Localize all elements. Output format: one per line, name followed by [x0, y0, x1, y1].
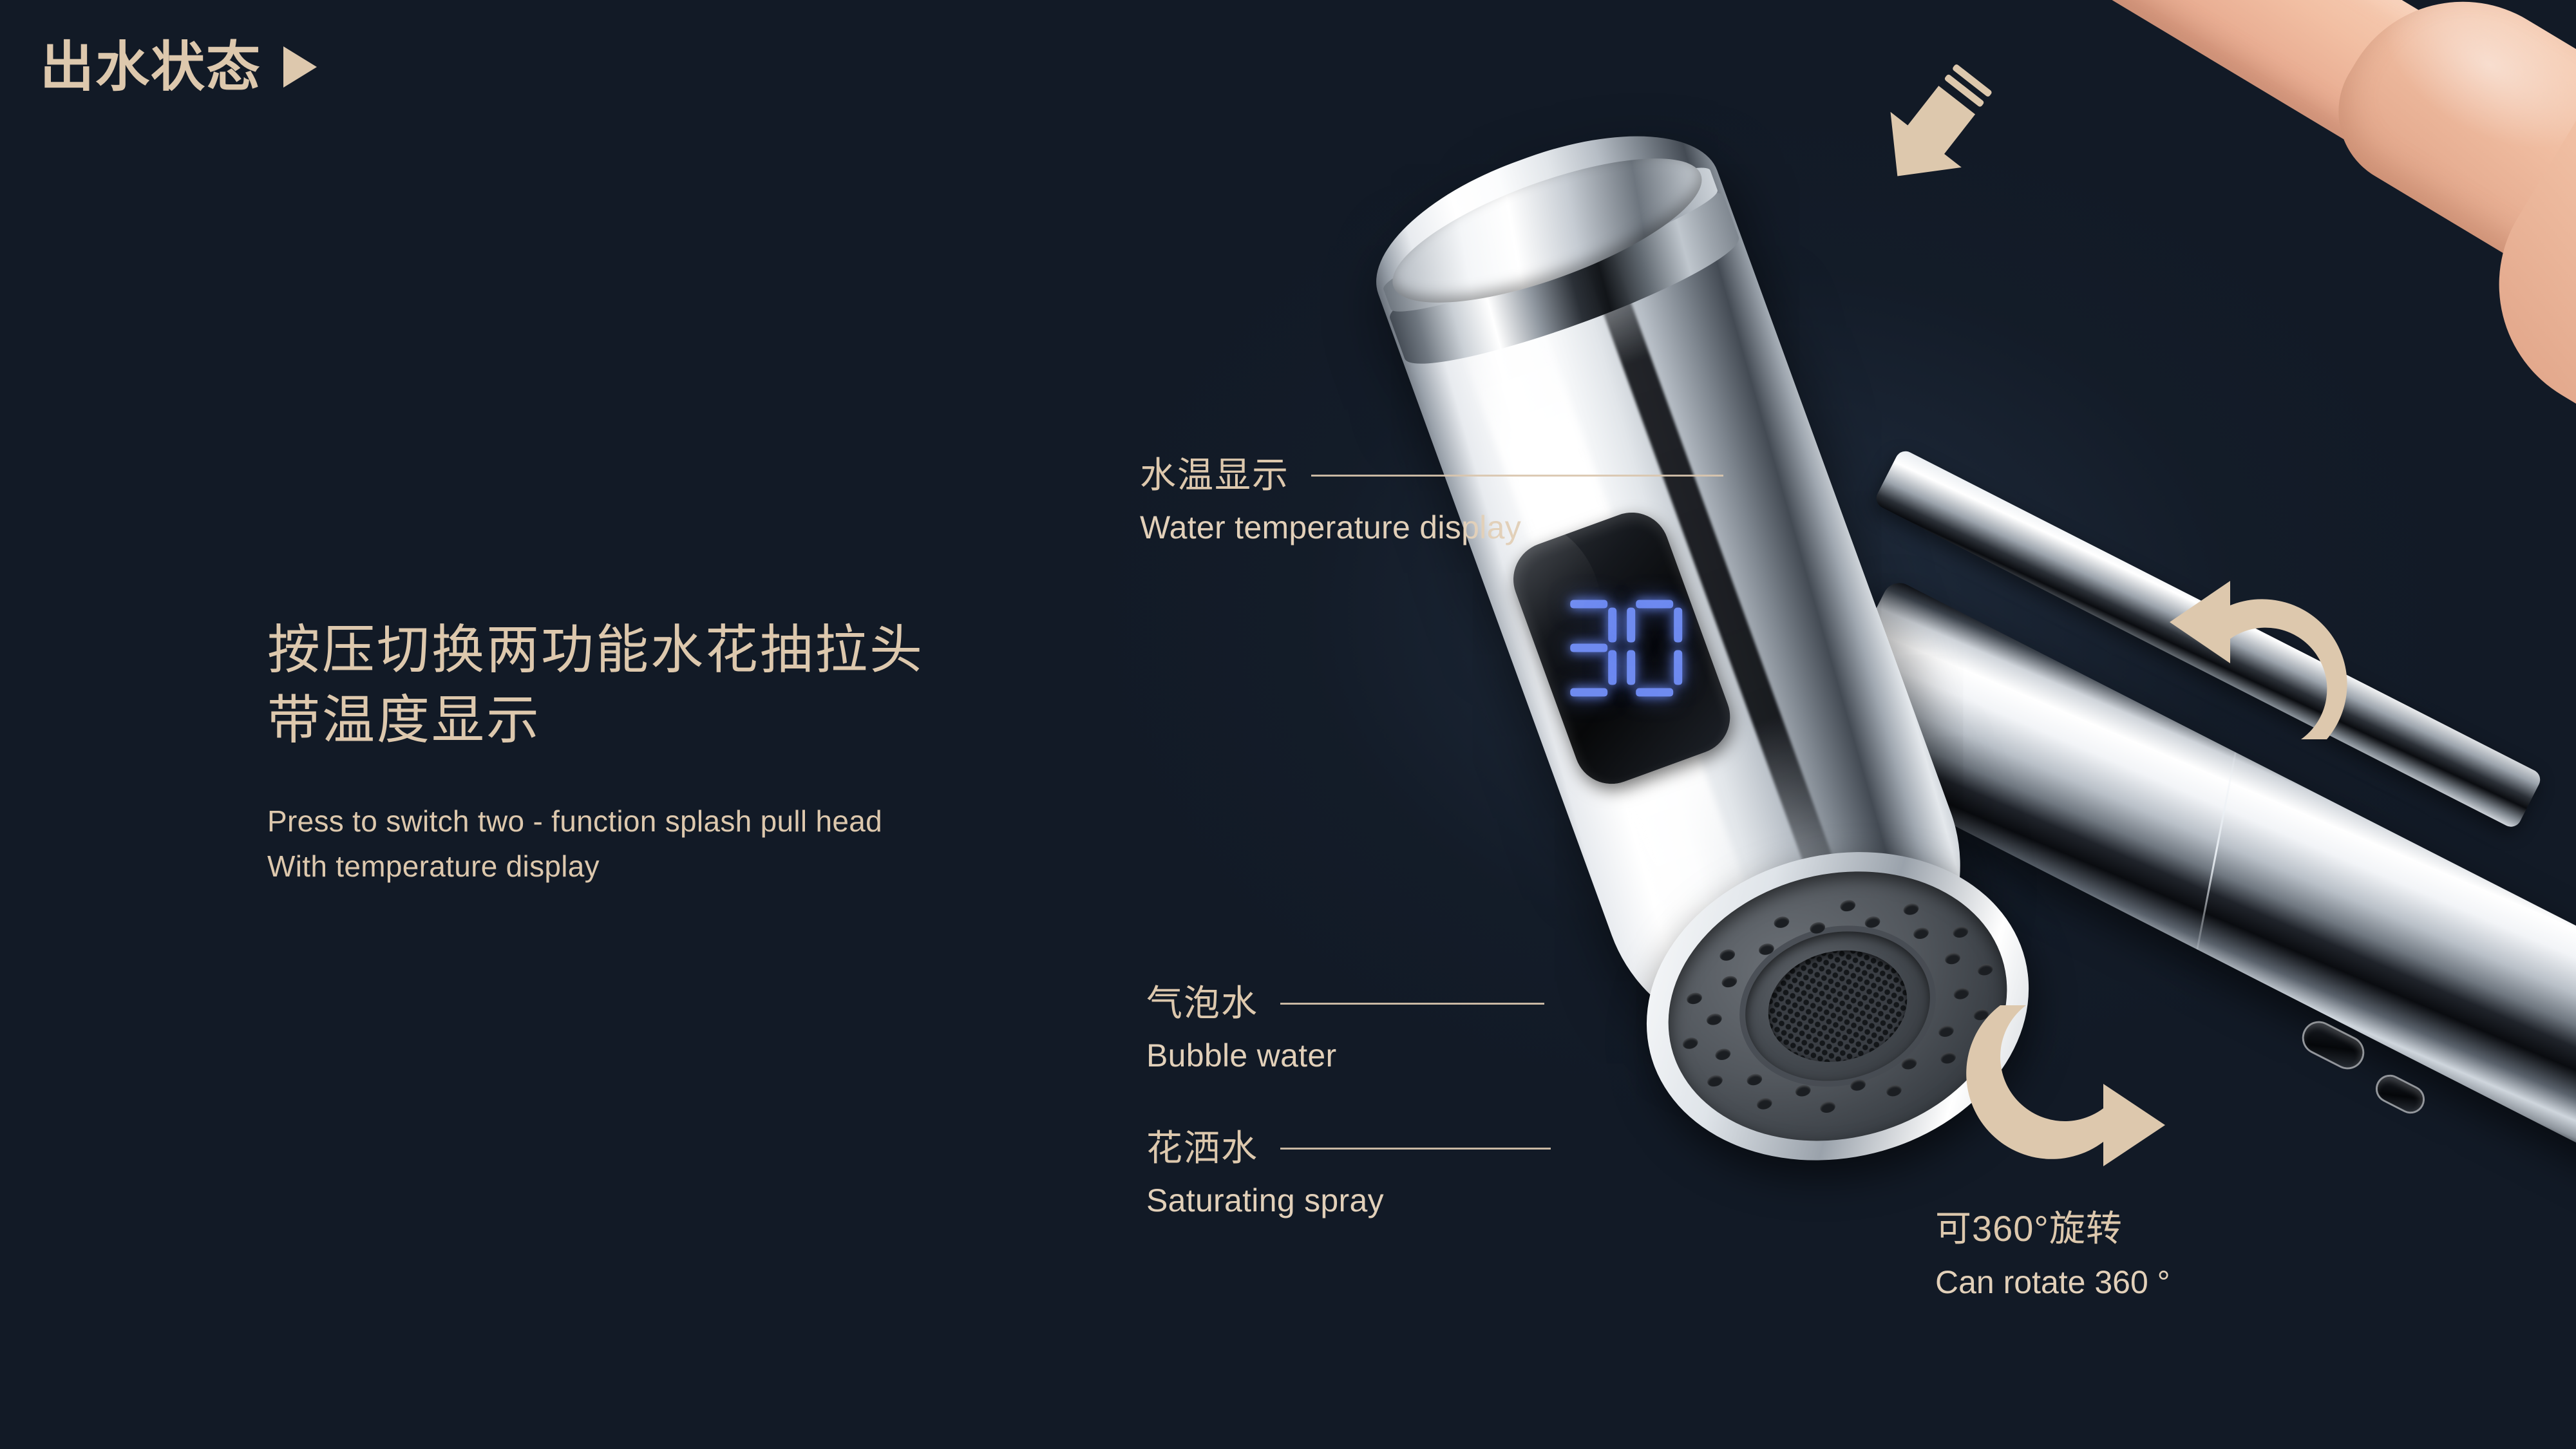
- spray-face-rim: [1614, 813, 2062, 1200]
- spray-hole: [1885, 1084, 1902, 1098]
- product-feature-slide: 出水状态 按压切换两功能水花抽拉头 带温度显示 Press to switch …: [0, 0, 2576, 1449]
- spray-hole: [1900, 1057, 1918, 1071]
- segment-c: [1608, 650, 1616, 685]
- seven-segment-digit: [1627, 600, 1682, 697]
- faucet-spout-seam: [1804, 577, 2576, 1182]
- spray-hole: [1681, 1036, 1699, 1050]
- leader-line: [1280, 1148, 1551, 1150]
- segment-d: [1636, 688, 1673, 697]
- faucet-top-cap: [1377, 129, 1718, 332]
- spray-hole: [1939, 1050, 1956, 1065]
- callout-rotate-cn: 可360°旋转: [1935, 1211, 2170, 1247]
- lede-cn-line2: 带温度显示: [267, 685, 924, 755]
- lede-en: Press to switch two - function splash pu…: [267, 799, 924, 889]
- chrome-highlight: [1452, 294, 1764, 964]
- spray-hole: [1746, 1072, 1763, 1086]
- lede-en-line2: With temperature display: [267, 844, 924, 889]
- faucet-spout-arm: [1804, 577, 2576, 1182]
- spray-hole: [1714, 1047, 1732, 1061]
- callout-spray-en: Saturating spray: [1146, 1183, 1551, 1218]
- segment-a: [1570, 600, 1607, 609]
- play-triangle-icon: [283, 46, 317, 88]
- spray-hole: [1794, 1083, 1812, 1097]
- press-down-arrow-icon: [1871, 61, 1993, 196]
- segment-c: [1674, 650, 1682, 685]
- chrome-reflection-stripe: [1577, 232, 1856, 932]
- spray-hole: [1809, 921, 1826, 935]
- spray-hole: [1972, 1007, 1989, 1021]
- callout-rotate-en: Can rotate 360 °: [1935, 1265, 2170, 1300]
- spray-hole: [1912, 926, 1929, 940]
- spray-hole: [1757, 942, 1775, 956]
- lede-block: 按压切换两功能水花抽拉头 带温度显示 Press to switch two -…: [267, 615, 924, 889]
- segment-b: [1674, 608, 1682, 643]
- spray-hole: [1951, 925, 1969, 939]
- spray-hole: [1849, 1078, 1866, 1092]
- finger-knuckle: [2311, 0, 2576, 310]
- segment-e: [1627, 650, 1635, 685]
- segment-f: [1627, 608, 1635, 643]
- hand-palm: [2451, 19, 2576, 501]
- spray-hole: [1864, 915, 1881, 929]
- faucet-spout-slot: [2373, 1072, 2427, 1115]
- spray-hole: [1902, 902, 1920, 916]
- callout-spray-cn: 花洒水: [1146, 1130, 1258, 1166]
- spray-hole: [1707, 1074, 1724, 1088]
- temperature-display-panel: [1503, 502, 1741, 795]
- segment-b: [1608, 608, 1616, 643]
- callout-bubble-cn: 气泡水: [1146, 985, 1258, 1021]
- spray-hole: [1705, 1012, 1723, 1026]
- spray-hole: [1721, 974, 1738, 989]
- callout-bubble-en: Bubble water: [1146, 1038, 1544, 1074]
- spray-hole: [1839, 898, 1856, 913]
- finger-pressing-photo: [1918, 0, 2576, 462]
- bubble-aerator: [1729, 913, 1946, 1100]
- faucet-collar-band-upper: [1377, 153, 1724, 327]
- leader-line: [1280, 1003, 1544, 1005]
- callout-temperature: 水温显示 Water temperature display: [1140, 457, 1723, 545]
- spray-hole: [1976, 963, 1994, 977]
- segment-d: [1570, 688, 1607, 697]
- callout-bubble-water: 气泡水 Bubble water: [1146, 985, 1544, 1074]
- lede-cn-line1: 按压切换两功能水花抽拉头: [267, 615, 924, 685]
- faucet-spout-slot: [2299, 1018, 2367, 1073]
- faucet-head: [1352, 98, 2021, 1129]
- spray-hole: [1718, 948, 1736, 962]
- page-title: 出水状态: [40, 40, 261, 94]
- temperature-digits: [1561, 600, 1682, 697]
- leader-line: [1311, 475, 1723, 477]
- spray-hole: [1953, 987, 1970, 1001]
- faucet-upper-connector: [1873, 448, 2544, 830]
- aerator-honeycomb-mesh: [1756, 936, 1919, 1077]
- callout-saturating-spray: 花洒水 Saturating spray: [1146, 1130, 1551, 1218]
- faucet-collar-band: [1381, 171, 1748, 384]
- segment-g: [1570, 644, 1607, 652]
- spray-hole: [1686, 991, 1703, 1005]
- page-header: 出水状态: [40, 40, 317, 94]
- spray-hole: [1756, 1097, 1773, 1111]
- callout-temperature-en: Water temperature display: [1140, 510, 1723, 545]
- spray-face: [1614, 813, 2062, 1200]
- spray-hole: [1773, 915, 1790, 929]
- spray-hole: [1819, 1100, 1837, 1114]
- spray-hole: [1937, 1024, 1955, 1038]
- callout-rotate: 可360°旋转 Can rotate 360 °: [1935, 1211, 2170, 1300]
- lede-en-line1: Press to switch two - function splash pu…: [267, 799, 924, 844]
- faucet-head-body: [1352, 98, 2008, 1093]
- segment-a: [1636, 600, 1673, 609]
- rotate-cw-arrow-icon: [1964, 989, 2177, 1182]
- index-finger: [2009, 0, 2506, 191]
- callout-temperature-cn: 水温显示: [1140, 457, 1289, 493]
- spray-hole: [1944, 952, 1961, 966]
- spray-face-disc: [1640, 837, 2036, 1176]
- rotate-ccw-arrow-icon: [2154, 567, 2367, 760]
- seven-segment-digit: [1561, 600, 1616, 697]
